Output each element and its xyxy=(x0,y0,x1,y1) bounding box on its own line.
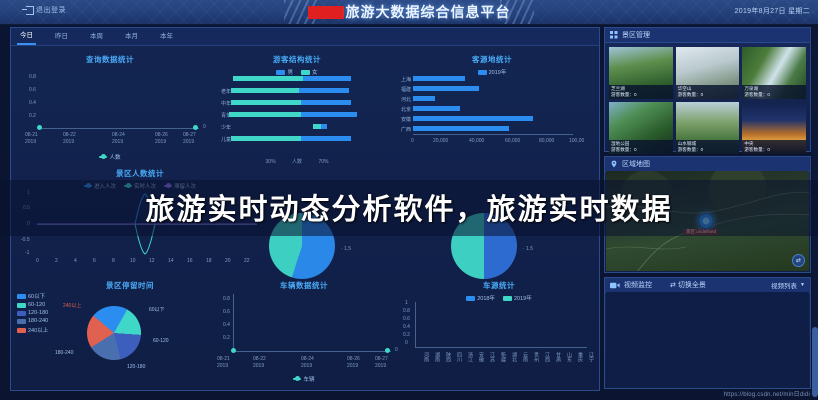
map-panel-title: 区域地图 xyxy=(622,159,650,169)
tab-yesterday[interactable]: 昨日 xyxy=(52,30,71,44)
xaxis-label: 人数 xyxy=(292,159,302,165)
legend-swatch-icon xyxy=(17,294,26,299)
ytick-0-8: 0.8 xyxy=(29,74,36,80)
legend-label: 2019年 xyxy=(514,294,532,302)
xcat-8: 湖北 xyxy=(507,352,518,362)
spot-count-label: 游客数量： xyxy=(744,92,767,97)
legend-item-people[interactable]: 人数 xyxy=(99,153,120,161)
bar-male-1 xyxy=(301,100,351,105)
spot-caption: 山水钢城 游客数量：0 xyxy=(676,140,740,154)
ytick-0: 0 xyxy=(405,340,408,346)
xtick-18: 18 xyxy=(206,258,212,264)
legend-item-male[interactable]: 男 xyxy=(276,68,293,76)
xtick-0: 0 xyxy=(36,258,39,264)
legend-item-2019[interactable]: 2019年 xyxy=(503,294,532,302)
xcat-3: 四川 xyxy=(452,352,463,362)
ytick-0-4: 0.4 xyxy=(29,100,36,106)
xtick-3: 08-26 xyxy=(155,132,168,138)
ytick-0-6: 0.6 xyxy=(223,309,230,315)
value-label-zero: 0 xyxy=(395,347,398,353)
ytick-0-6: 0.6 xyxy=(403,316,410,322)
value-label-zero: 0 xyxy=(203,124,206,130)
xtick-0-year: 2019 xyxy=(217,363,228,369)
legend-swatch-icon xyxy=(293,378,301,380)
chart-query-stats: 查询数据统计 0.8 0.6 0.4 0.2 0 08-21 2019 08-2… xyxy=(15,54,205,164)
grid-icon xyxy=(610,31,618,39)
spot-count: 0 xyxy=(634,92,637,97)
bar-male-4 xyxy=(301,136,351,141)
spot-count-label: 游客数量： xyxy=(611,92,634,97)
chart-source-region-legend: 2019年 xyxy=(391,68,593,76)
legend-label: 60以下 xyxy=(28,292,45,300)
map-panel-header: 区域地图 xyxy=(605,157,810,172)
xcat-12: 甘肃 xyxy=(551,352,562,362)
tab-year[interactable]: 本年 xyxy=(157,30,176,44)
ytick-0-6: 0.6 xyxy=(29,87,36,93)
page-title: 旅游大数据综合信息平台 xyxy=(0,2,818,22)
cat-label-3: 少年 xyxy=(209,124,231,131)
cat-label-1: 中年 xyxy=(209,100,231,107)
chevron-down-icon: ▼ xyxy=(800,282,805,288)
spot-count-label: 游客数量： xyxy=(611,147,634,152)
xtick-4: 08-27 xyxy=(375,356,388,362)
bar-1 xyxy=(413,86,479,91)
chart-vehicle-source-title: 车源统计 xyxy=(403,280,595,291)
xtick-12: 12 xyxy=(149,258,155,264)
xcat-13: 山东 xyxy=(562,352,573,362)
xcat-2: 陕西 xyxy=(441,352,452,362)
ytick-1: 1 xyxy=(405,300,408,306)
x-axis-line xyxy=(39,128,199,129)
bar-0 xyxy=(413,76,465,81)
legend-label: 2018年 xyxy=(477,294,495,302)
bar-male-2 xyxy=(301,112,357,117)
chart-vehicle-source-legend: 2018年 2019年 xyxy=(403,294,595,302)
bar-female-top xyxy=(233,76,303,81)
legend-label: 男 xyxy=(287,68,293,76)
x-axis-line xyxy=(413,134,573,135)
legend-swatch-icon xyxy=(503,296,512,301)
xtick-4: 08-27 xyxy=(183,132,196,138)
cat-label-0: 上海 xyxy=(391,76,411,83)
bar-female-1 xyxy=(231,100,301,105)
xtick-left-pct: 30% xyxy=(266,159,276,165)
xtick-2-year: 2019 xyxy=(112,139,123,145)
spot-count: 0 xyxy=(701,147,704,152)
series-point-start xyxy=(231,348,236,353)
xtick-2: 08-24 xyxy=(301,356,314,362)
tab-today[interactable]: 今日 xyxy=(17,29,36,45)
xtick-4-year: 2019 xyxy=(183,139,194,145)
xtick-0: 08-21 xyxy=(25,132,38,138)
scenic-spot-grid: 芝兰湖 游客数量：0 华空山 游客数量：0 万泉湖 游客数量：0 湿地公园 游客… xyxy=(605,43,810,158)
scenic-panel-header: 景区管理 xyxy=(605,28,810,43)
xtick-22: 22 xyxy=(244,258,250,264)
spot-count: 0 xyxy=(634,147,637,152)
legend-swatch-icon xyxy=(99,156,107,158)
tab-month[interactable]: 本月 xyxy=(122,30,141,44)
panorama-switch-label: 切换全景 xyxy=(678,280,706,290)
xtick-1-year: 2019 xyxy=(253,363,264,369)
stay-time-pie[interactable] xyxy=(87,306,141,360)
ytick-0-8: 0.8 xyxy=(403,308,410,314)
xtick-2: 2 xyxy=(55,258,58,264)
xtick-14: 14 xyxy=(168,258,174,264)
bar-4 xyxy=(413,116,533,121)
video-list-dropdown[interactable]: 视频列表 ▼ xyxy=(771,280,805,290)
decor-label-right: · 1.5 xyxy=(523,246,533,252)
pie-callout-0: 60以下 xyxy=(149,306,165,313)
spot-count-label: 游客数量： xyxy=(678,147,701,152)
series-point-start xyxy=(37,125,42,130)
series-point-end xyxy=(385,348,390,353)
chart-query-stats-title: 查询数据统计 xyxy=(15,54,205,65)
bar-2 xyxy=(413,96,435,101)
xtick-8: 8 xyxy=(112,258,115,264)
xtick-3-year: 2019 xyxy=(155,139,166,145)
xcat-9: 云南 xyxy=(518,352,529,362)
cat-label-0: 老年 xyxy=(209,88,231,95)
chart-source-region: 客源地统计 2019年 上海 福建 河北 北京 安徽 广西 0 20,000 4… xyxy=(391,54,593,164)
xcat-6: 江苏 xyxy=(485,352,496,362)
bar-5 xyxy=(413,126,509,131)
xcat-7: 新疆 xyxy=(496,352,507,362)
spot-caption: 万泉湖 游客数量：0 xyxy=(742,85,806,99)
pie-callout-3: 180-240 xyxy=(55,350,73,356)
legend-item-2[interactable]: 120-180 xyxy=(17,310,48,316)
chart-vehicle-source: 车源统计 2018年 2019年 1 0.8 0.6 0.4 0.2 0 河南 … xyxy=(403,280,595,386)
cat-label-5: 广西 xyxy=(391,126,411,133)
chart-visitor-structure-title: 游客结构统计 xyxy=(209,54,385,65)
cat-label-1: 福建 xyxy=(391,86,411,93)
scenic-panel-title: 景区管理 xyxy=(622,30,650,40)
bar-male-0 xyxy=(299,88,349,93)
xtick-0-year: 2019 xyxy=(25,139,36,145)
chart-visitor-structure-legend: 男 女 xyxy=(209,68,385,76)
legend-label: 240以上 xyxy=(28,326,48,334)
video-stream-area[interactable] xyxy=(606,292,809,387)
tab-week[interactable]: 本周 xyxy=(87,30,106,44)
legend-label: 60-120 xyxy=(28,302,45,308)
legend-item-1[interactable]: 60-120 xyxy=(17,302,48,308)
xcat-5: 安徽 xyxy=(474,352,485,362)
legend-label: 2019年 xyxy=(489,68,507,76)
scenic-spot-card[interactable]: 华空山 游客数量：0 xyxy=(676,47,740,99)
spot-count: 0 xyxy=(701,92,704,97)
xtick-2: 40,000 xyxy=(469,138,484,144)
legend-swatch-icon xyxy=(466,296,475,301)
xtick-3: 60,000 xyxy=(505,138,520,144)
chart-vehicle-stats-legend: 车辆 xyxy=(209,375,399,383)
cat-label-3: 北京 xyxy=(391,106,411,113)
xtick-1-year: 2019 xyxy=(63,139,74,145)
video-list-label: 视频列表 xyxy=(771,280,797,290)
bar-female-4 xyxy=(231,136,301,141)
xcat-14: 重庆 xyxy=(573,352,584,362)
watermark-url: https://blog.csdn.net/min日didi xyxy=(724,389,810,398)
ytick-0-4: 0.4 xyxy=(403,324,410,330)
spot-count: 0 xyxy=(767,147,770,152)
xtick-right-pct: 70% xyxy=(318,159,328,165)
spot-caption: 湿地公园 游客数量：0 xyxy=(609,140,673,154)
xcat-10: 贵州 xyxy=(529,352,540,362)
legend-swatch-icon xyxy=(17,311,26,316)
panorama-switch-button[interactable]: ⇄ 切换全景 xyxy=(670,280,706,290)
xtick-4: 80,000 xyxy=(539,138,554,144)
decor-label-left: · 1.5 xyxy=(341,246,351,252)
chart-query-stats-legend: 人数 xyxy=(15,153,205,161)
legend-item-2019[interactable]: 2019年 xyxy=(478,68,507,76)
scenic-spot-card[interactable]: 中央 游客数量：0 xyxy=(742,102,806,154)
map-swap-button[interactable]: ⇄ xyxy=(792,254,805,267)
spot-caption: 华空山 游客数量：0 xyxy=(676,85,740,99)
xtick-1: 08-22 xyxy=(63,132,76,138)
xtick-4-year: 2019 xyxy=(375,363,386,369)
series-point-end xyxy=(193,125,198,130)
pie-callout-2: 120-180 xyxy=(127,364,145,370)
swap-icon: ⇄ xyxy=(670,281,676,289)
cat-label-2: 青年 xyxy=(209,112,231,119)
video-panel-header: 视频监控 ⇄ 切换全景 视频列表 ▼ xyxy=(605,278,810,293)
legend-item-2018[interactable]: 2018年 xyxy=(466,294,495,302)
xtick-0: 0 xyxy=(411,138,414,144)
legend-label: 120-180 xyxy=(28,310,48,316)
xtick-10: 10 xyxy=(130,258,136,264)
xtick-5: 100,00 xyxy=(569,138,584,144)
scrollbar-thumb[interactable] xyxy=(812,327,818,397)
legend-item-4[interactable]: 240以上 xyxy=(17,326,48,334)
xtick-3-year: 2019 xyxy=(347,363,358,369)
legend-swatch-icon xyxy=(301,70,310,75)
legend-item-female[interactable]: 女 xyxy=(301,68,318,76)
cat-label-4: 儿童 xyxy=(209,136,231,143)
xcat-15: 辽宁 xyxy=(584,352,595,362)
legend-swatch-icon xyxy=(276,70,285,75)
legend-swatch-icon xyxy=(17,303,26,308)
legend-label: 女 xyxy=(312,68,318,76)
xcat-1: 湖南 xyxy=(430,352,441,362)
ytick-0-2: 0.2 xyxy=(223,335,230,341)
header-date: 2019年8月27日 星期二 xyxy=(735,6,810,16)
xcat-0: 河南 xyxy=(419,352,430,362)
x-axis-line xyxy=(233,351,391,352)
x-axis-line xyxy=(415,347,587,348)
legend-item-3[interactable]: 180-240 xyxy=(17,318,48,324)
xtick-20: 20 xyxy=(225,258,231,264)
legend-label: 车辆 xyxy=(303,375,314,383)
scenic-spot-card[interactable]: 芝兰湖 游客数量：0 xyxy=(609,47,673,99)
chart-vehicle-stats-title: 车辆数据统计 xyxy=(209,280,399,291)
camera-icon xyxy=(610,282,620,289)
scenic-spot-card[interactable]: 万泉湖 游客数量：0 xyxy=(742,47,806,99)
bar-female-3 xyxy=(313,124,321,129)
xcat-11: 江西 xyxy=(540,352,551,362)
page-title-text: 旅游大数据综合信息平台 xyxy=(346,4,511,20)
chart-stay-time-legend: 60以下 60-120 120-180 180-240 240以上 xyxy=(17,292,48,334)
spot-caption: 芝兰湖 游客数量：0 xyxy=(609,85,673,99)
spot-count-label: 游客数量： xyxy=(744,147,767,152)
xtick-4: 4 xyxy=(74,258,77,264)
cat-label-4: 安徽 xyxy=(391,116,411,123)
legend-label: 人数 xyxy=(109,153,120,161)
scenic-spot-card[interactable]: 山水钢城 游客数量：0 xyxy=(676,102,740,154)
xtick-16: 16 xyxy=(187,258,193,264)
legend-swatch-icon xyxy=(478,70,487,75)
chart-stay-time: 景区停留时间 60以下 60-120 120-180 180-240 240以上… xyxy=(15,280,205,386)
spot-count-label: 游客数量： xyxy=(678,92,701,97)
xtick-6: 6 xyxy=(93,258,96,264)
xtick-3: 08-26 xyxy=(347,356,360,362)
video-panel-title: 视频监控 xyxy=(624,280,652,290)
period-tabs: 今日 昨日 本周 本月 本年 xyxy=(11,28,599,46)
bar-male-3 xyxy=(321,124,327,129)
xtick-2: 08-24 xyxy=(112,132,125,138)
xtick-0: 08-21 xyxy=(217,356,230,362)
visitor-structure-plot: 老年 中年 青年 少年 儿童 xyxy=(209,76,385,144)
cat-label-2: 河北 xyxy=(391,96,411,103)
pie-callout-4: 240以上 xyxy=(63,302,81,309)
y-axis-line xyxy=(415,302,416,347)
legend-swatch-icon xyxy=(17,319,26,324)
bar-female-0 xyxy=(231,88,299,93)
redaction-box xyxy=(308,6,344,19)
xtick-2-year: 2019 xyxy=(301,363,312,369)
ytick-0-2: 0.2 xyxy=(29,113,36,119)
ytick-0-4: 0.4 xyxy=(223,322,230,328)
pie-callout-1: 60-120 xyxy=(153,338,169,344)
legend-item-vehicle[interactable]: 车辆 xyxy=(293,375,314,383)
bar-female-2 xyxy=(229,112,301,117)
ytick-0-8: 0.8 xyxy=(223,296,230,302)
chart-visitor-structure: 游客结构统计 男 女 老年 中年 青年 少年 儿童 xyxy=(209,54,385,164)
xtick-1: 08-22 xyxy=(253,356,266,362)
chart-stay-time-title: 景区停留时间 xyxy=(55,280,205,291)
xtick-1: 20,000 xyxy=(433,138,448,144)
legend-label: 180-240 xyxy=(28,318,48,324)
video-monitor-panel: 视频监控 ⇄ 切换全景 视频列表 ▼ xyxy=(604,277,811,389)
spot-count: 0 xyxy=(767,92,770,97)
bar-3 xyxy=(413,106,460,111)
app-header: 退出登录 旅游大数据综合信息平台 2019年8月27日 星期二 xyxy=(0,0,818,25)
legend-item-0[interactable]: 60以下 xyxy=(17,292,48,300)
scenic-spot-card[interactable]: 湿地公园 游客数量：0 xyxy=(609,102,673,154)
xcat-4: 浙江 xyxy=(463,352,474,362)
scenic-management-panel: 景区管理 芝兰湖 游客数量：0 华空山 游客数量：0 万泉湖 游客数量：0 xyxy=(604,27,811,152)
spot-caption: 中央 游客数量：0 xyxy=(742,140,806,154)
source-region-plot: 上海 福建 河北 北京 安徽 广西 xyxy=(391,76,593,138)
chart-source-region-title: 客源地统计 xyxy=(391,54,593,65)
watermark-text: 旅游实时动态分析软件，旅游实时数据 xyxy=(0,186,818,228)
ytick-0-2: 0.2 xyxy=(403,332,410,338)
map-pin-icon xyxy=(610,160,618,168)
bar-male-top xyxy=(303,76,351,81)
chart-scenic-people-title: 景区人数统计 xyxy=(15,168,265,179)
y-axis-line xyxy=(233,294,234,352)
chart-vehicle-stats: 车辆数据统计 0.8 0.6 0.4 0.2 0 08-21 2019 08-2… xyxy=(209,280,399,386)
legend-swatch-icon xyxy=(17,328,26,333)
